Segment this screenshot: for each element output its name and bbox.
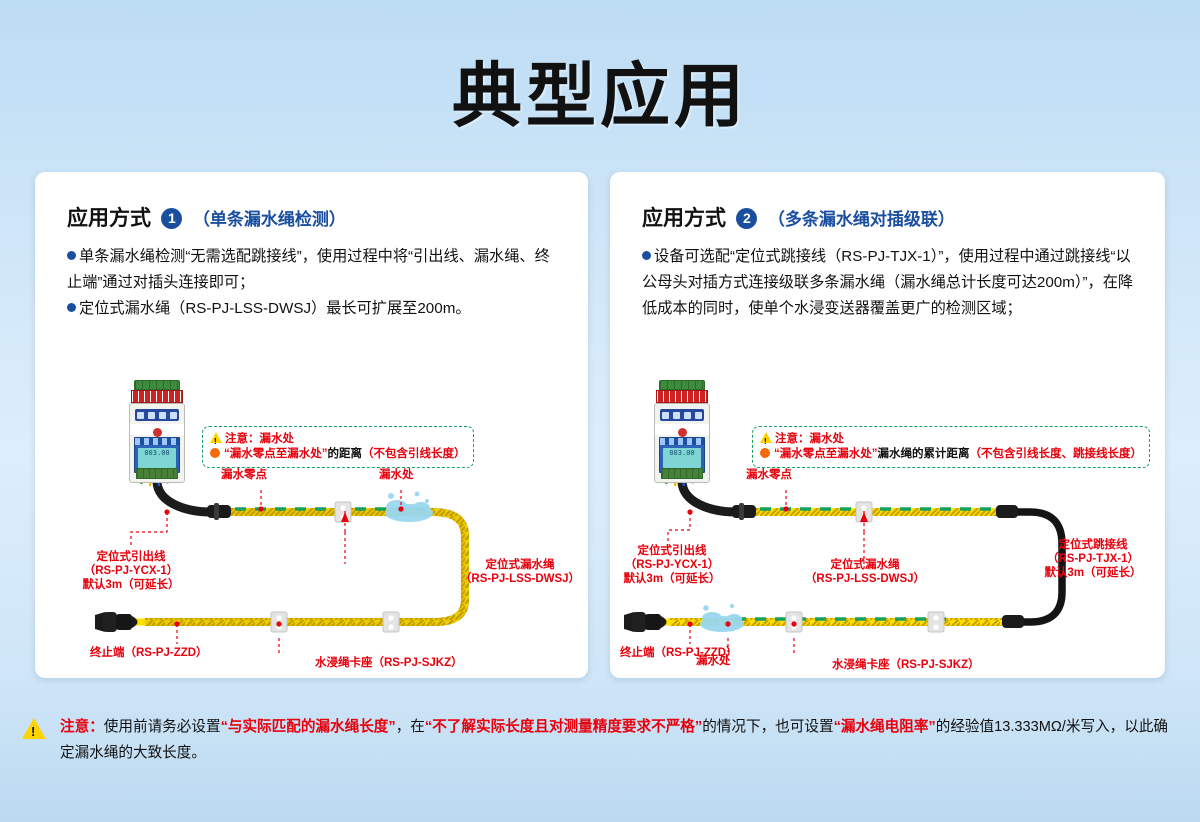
device-bottom-terminal <box>136 468 178 479</box>
panel-2-label-lead-wire: 定位式引出线 （RS-PJ-YCX-1） 默认3m（可延长） <box>592 544 752 586</box>
device-bottom-terminal <box>661 468 703 479</box>
device-button-row[interactable] <box>660 409 704 421</box>
device-red-band <box>656 390 708 403</box>
panel-2-note-box: 注意：漏水处 “漏水零点至漏水处”漏水绳的累计距离（不包含引线长度、跳接线长度） <box>752 426 1150 468</box>
panel-1-label-rope: 定位式漏水绳 （RS-PJ-LSS-DWSJ） <box>455 558 585 586</box>
panel-1-label-clip: 水浸绳卡座（RS-PJ-SJKZ） <box>315 656 463 670</box>
panel-application-method-2: 应用方式 2 （多条漏水绳对插级联） 设备可选配“定位式跳接线（RS-PJ-TJ… <box>610 172 1165 678</box>
panel-1-note-box: 注意：漏水处 “漏水零点至漏水处”的距离（不包含引线长度） <box>202 426 474 468</box>
panel-2-label-rope: 定位式漏水绳 （RS-PJ-LSS-DWSJ） <box>800 558 930 586</box>
panel-2-label-jumper: 定位式跳接线 （RS-PJ-TJX-1） 默认3m（可延长） <box>1028 538 1158 580</box>
panel-2-label-clip: 水浸绳卡座（RS-PJ-SJKZ） <box>832 658 980 672</box>
device-red-band <box>131 390 183 403</box>
device-logo-icon <box>655 424 709 435</box>
warning-triangle-icon <box>210 432 222 443</box>
bottom-warning-prefix: 注意： <box>60 719 104 735</box>
warning-triangle-icon <box>760 432 772 443</box>
panel-2-label-leak-point: 漏水处 <box>696 654 731 668</box>
panel-1-label-lead-wire: 定位式引出线 （RS-PJ-YCX-1） 默认3m（可延长） <box>51 550 211 592</box>
device-body: 003.00 <box>654 403 710 483</box>
panel-application-method-1: 应用方式 1 （单条漏水绳检测） 单条漏水绳检测“无需选配跳接线”，使用过程中将… <box>35 172 588 678</box>
orange-dot-icon <box>210 448 220 458</box>
panel-1-label-leak-point: 漏水处 <box>379 468 414 482</box>
water-immersion-transmitter-device: 003.00 <box>654 380 710 483</box>
device-top-terminal <box>134 380 180 390</box>
device-lcd-reading: 003.00 <box>138 448 176 468</box>
warning-triangle-icon <box>22 718 46 739</box>
panel-1-diagram <box>35 172 588 678</box>
page-title: 典型应用 <box>0 40 1200 141</box>
panel-1-note-line1: 注意：漏水处 <box>210 431 466 447</box>
panel-1-label-zero-point: 漏水零点 <box>221 468 267 482</box>
panel-2-note-line2: “漏水零点至漏水处”漏水绳的累计距离（不包含引线长度、跳接线长度） <box>760 447 1142 462</box>
water-immersion-transmitter-device: 003.00 <box>129 380 185 483</box>
device-button-row[interactable] <box>135 409 179 421</box>
device-logo-icon <box>130 424 184 435</box>
panel-1-note-line2: “漏水零点至漏水处”的距离（不包含引线长度） <box>210 447 466 462</box>
bottom-warning-text: 注意：使用前请务必设置“与实际匹配的漏水绳长度”，在“不了解实际长度且对测量精度… <box>60 714 1182 766</box>
bottom-warning-note: 注意：使用前请务必设置“与实际匹配的漏水绳长度”，在“不了解实际长度且对测量精度… <box>22 714 1182 766</box>
panel-2-label-zero-point: 漏水零点 <box>746 468 792 482</box>
device-top-terminal <box>659 380 705 390</box>
panel-1-label-terminator: 终止端（RS-PJ-ZZD） <box>90 646 208 660</box>
panel-2-note-line1: 注意：漏水处 <box>760 431 1142 447</box>
orange-dot-icon <box>760 448 770 458</box>
device-body: 003.00 <box>129 403 185 483</box>
device-lcd-reading: 003.00 <box>663 448 701 468</box>
